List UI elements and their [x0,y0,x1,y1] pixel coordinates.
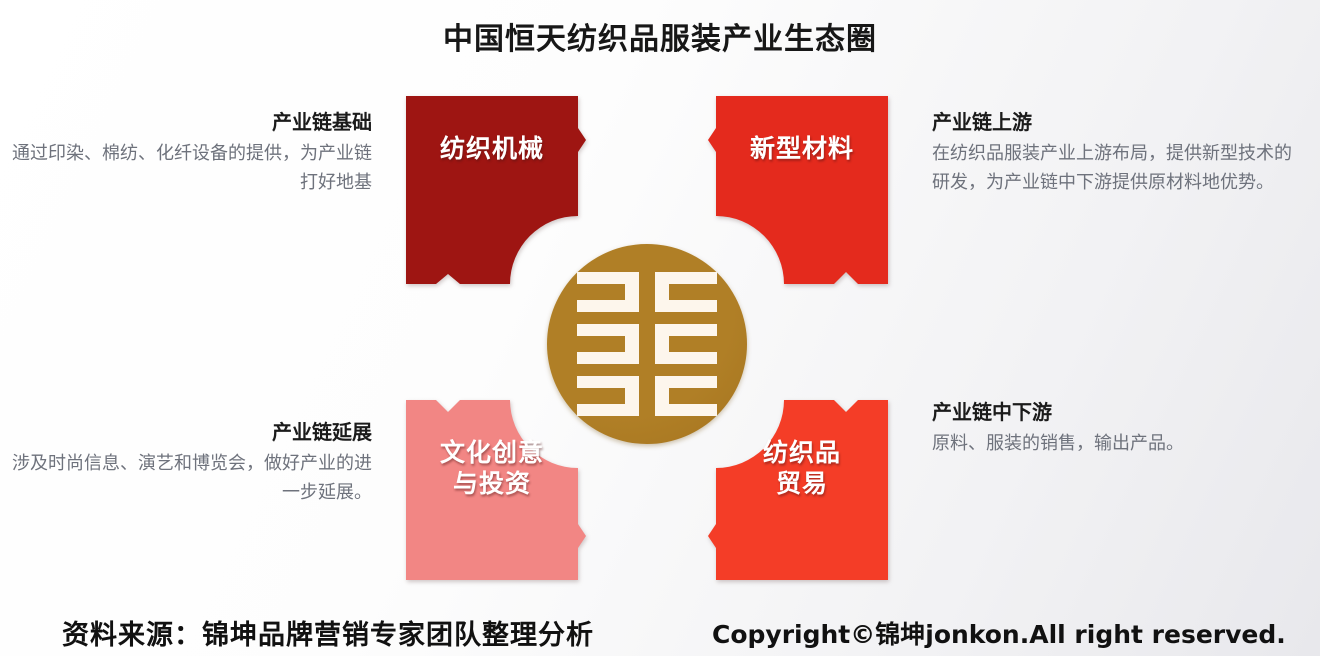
quadrant-shape-top-right [708,88,896,284]
source-note: 资料来源：锦坤品牌营销专家团队整理分析 [62,613,594,652]
callout-top-left: 产业链基础 通过印染、棉纺、化纤设备的提供，为产业链打好地基 [0,108,372,197]
quadrant-culture-creative-investment[interactable]: 文化创意与投资 [398,392,586,588]
copyright-note: Copyright©锦坤jonkon.All right reserved. [712,615,1286,651]
quadrant-textile-machinery[interactable]: 纺织机械 [398,88,586,284]
infographic-canvas: 中国恒天纺织品服装产业生态圈 产业链基础 通过印染、棉纺、化纤设备的提供，为产业… [0,0,1320,656]
page-title: 中国恒天纺织品服装产业生态圈 [0,14,1320,58]
callout-bottom-left-heading: 产业链延展 [0,418,372,447]
callout-top-right-heading: 产业链上游 [932,108,1304,137]
quadrant-shape-bottom-left [398,392,586,588]
quadrant-shape-bottom-right [708,392,896,588]
quadrant-new-materials[interactable]: 新型材料 [708,88,896,284]
footer: 资料来源：锦坤品牌营销专家团队整理分析 Copyright©锦坤jonkon.A… [0,613,1320,656]
callout-top-right-body: 在纺织品服装产业上游布局，提供新型技术的研发，为产业链中下游提供原材料地优势。 [932,139,1304,197]
callout-bottom-right-heading: 产业链中下游 [932,398,1304,427]
callout-bottom-right: 产业链中下游 原料、服装的销售，输出产品。 [932,398,1304,458]
callout-bottom-left: 产业链延展 涉及时尚信息、演艺和博览会，做好产业的进一步延展。 [0,418,372,507]
callout-top-left-body: 通过印染、棉纺、化纤设备的提供，为产业链打好地基 [0,139,372,197]
hengtian-logo-icon [577,272,717,416]
quadrant-shape-top-left [398,88,586,284]
callout-bottom-left-body: 涉及时尚信息、演艺和博览会，做好产业的进一步延展。 [0,449,372,507]
callout-bottom-right-body: 原料、服装的销售，输出产品。 [932,429,1304,458]
callout-top-right: 产业链上游 在纺织品服装产业上游布局，提供新型技术的研发，为产业链中下游提供原材… [932,108,1304,197]
ecosystem-diagram: 纺织机械 新型材料 文化创意与投资 纺织品贸易 [398,88,896,588]
callout-top-left-heading: 产业链基础 [0,108,372,137]
center-hub[interactable] [547,244,747,444]
quadrant-textile-trade[interactable]: 纺织品贸易 [708,392,896,588]
